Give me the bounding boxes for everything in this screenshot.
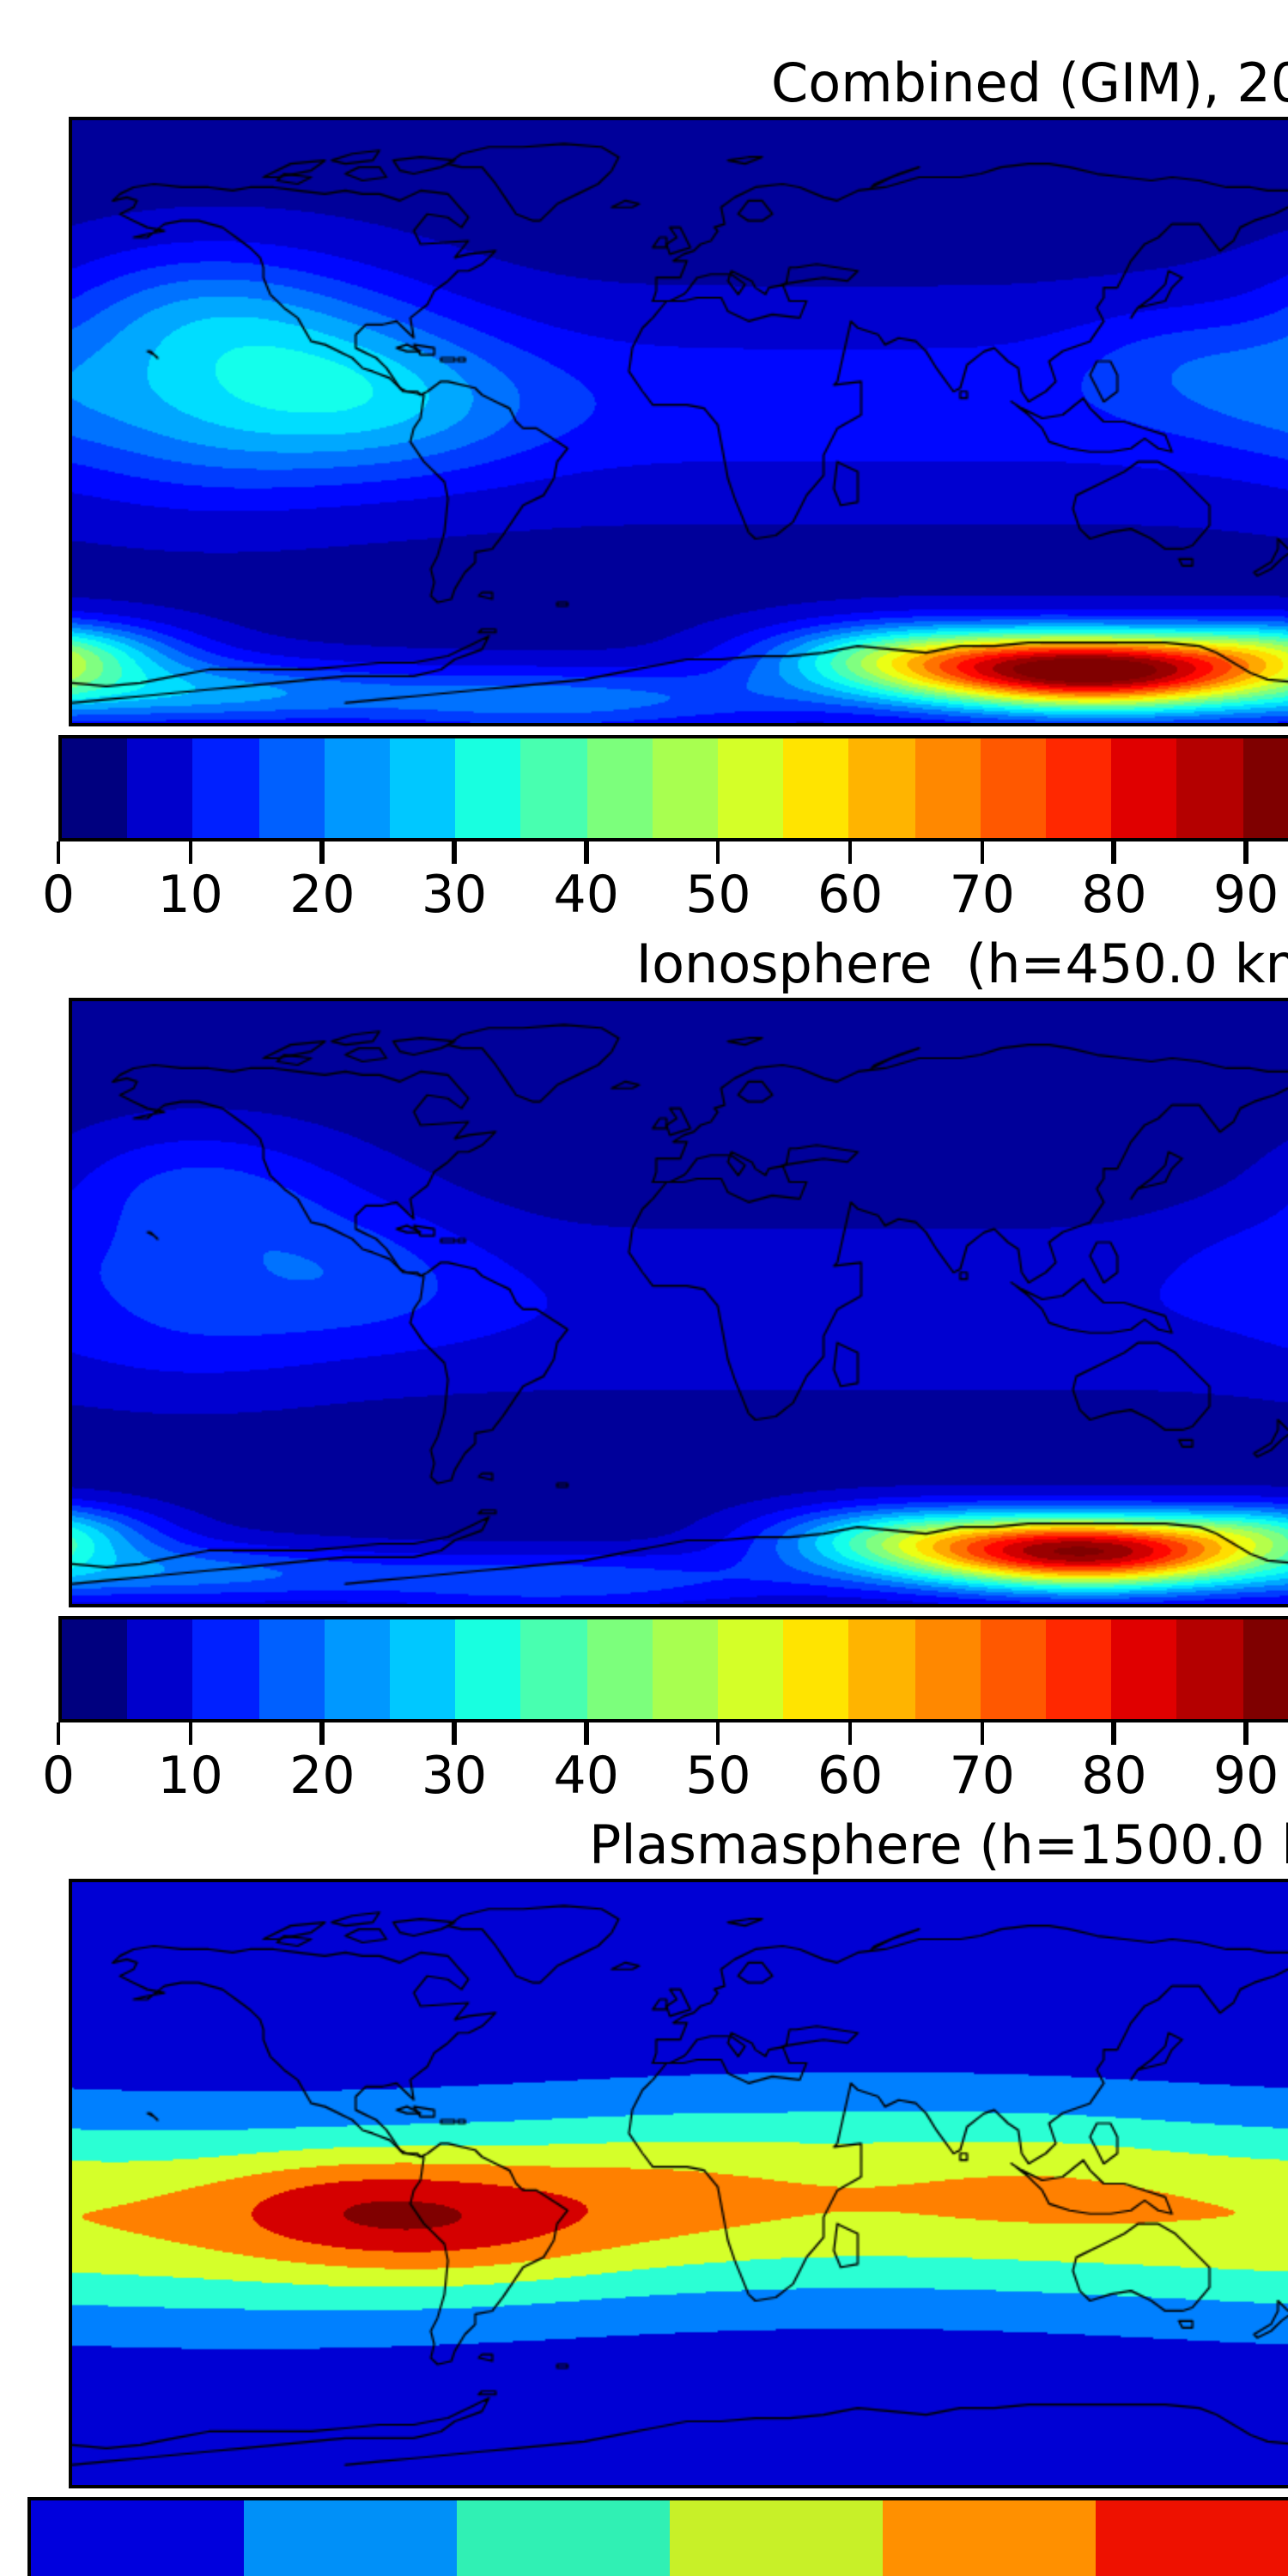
colorbar-tick-label: 50 [685,1747,750,1808]
figure-canvas: Combined (GIM), 2009-05-01 21:00 UT 0102… [0,0,1288,2576]
colorbar-segment [127,1619,192,1719]
colorbar-segment [521,738,586,838]
colorbar-segment [914,1619,980,1719]
colorbar-segment [670,2500,883,2576]
colorbar-segment [127,738,192,838]
colorbar-tick-label: 30 [422,1747,487,1808]
colorbar-tick-label: 0 [42,1747,75,1808]
colorbar-segment [390,1619,455,1719]
colorbar-segment [325,1619,390,1719]
panel-title-combined: Combined (GIM), 2009-05-01 21:00 UT [0,52,1288,117]
colorbar-segment [457,2500,670,2576]
map-plot-area-plasmasphere [69,1879,1288,2488]
colorbar-tick-labels-combined: 0102030405060708090 [58,866,1288,934]
colorbar-gradient-combined [58,735,1288,841]
colorbar-segment [1046,1619,1111,1719]
colorbar-tick-label: 30 [422,866,487,927]
colorbar-ionosphere: 0102030405060708090 [58,1616,1288,1822]
colorbar-plasmasphere: 0.02.55.07.510.012.515.0 [27,2497,1288,2576]
colorbar-segment [783,1619,848,1719]
colorbar-segment [244,2500,457,2576]
colorbar-tick-label: 60 [817,1747,883,1808]
colorbar-segment [390,738,455,838]
panel-ionosphere: Ionosphere (h=450.0 km), 2009-05-01 21:0… [0,933,1288,998]
colorbar-tick [584,1722,588,1745]
colorbar-segment [258,738,324,838]
colorbar-tick [188,841,192,864]
colorbar-tick [1112,841,1116,864]
panel-title-ionosphere: Ionosphere (h=450.0 km), 2009-05-01 21:0… [0,933,1288,998]
map-image-plasmasphere [72,1882,1288,2485]
map-image-combined [72,120,1288,723]
colorbar-segment [586,1619,652,1719]
colorbar-segment [981,738,1046,838]
colorbar-tick [453,1722,457,1745]
colorbar-segment [258,1619,324,1719]
colorbar-segment [1242,1619,1288,1719]
colorbar-tick [1112,1722,1116,1745]
map-axes-combined [69,117,1288,726]
map-plot-area-combined [69,117,1288,726]
colorbar-tick-label: 50 [685,866,750,927]
colorbar-segment [62,738,127,838]
colorbar-segment [653,738,718,838]
colorbar-segment [883,2500,1096,2576]
colorbar-tick [57,1722,61,1745]
colorbar-tick [980,841,984,864]
colorbar-tick [57,841,61,864]
colorbar-tick-label: 70 [950,866,1015,927]
map-plot-area-ionosphere [69,998,1288,1607]
colorbar-tick-label: 40 [554,1747,619,1808]
colorbar-gradient-plasmasphere [27,2497,1288,2576]
panel-plasmasphere: Plasmasphere (h=1500.0 km), 2009-05-01 2… [0,1814,1288,1879]
colorbar-segment [193,1619,258,1719]
colorbar-tick-label: 40 [554,866,619,927]
colorbar-segment [1112,1619,1177,1719]
colorbar-segment [1242,738,1288,838]
colorbar-tick-label: 10 [157,866,222,927]
colorbar-tick-label: 0 [42,866,75,927]
colorbar-tick-label: 90 [1213,1747,1279,1808]
colorbar-segment [653,1619,718,1719]
colorbar-segment [1096,2500,1288,2576]
colorbar-tick [584,841,588,864]
colorbar-segment [586,738,652,838]
colorbar-segment [1112,738,1177,838]
map-axes-ionosphere [69,998,1288,1607]
colorbar-tick-labels-ionosphere: 0102030405060708090 [58,1747,1288,1815]
colorbar-segment [31,2500,244,2576]
colorbar-segment [718,738,783,838]
colorbar-segment [783,738,848,838]
panel-title-plasmasphere: Plasmasphere (h=1500.0 km), 2009-05-01 2… [0,1814,1288,1879]
colorbar-segment [1177,738,1242,838]
colorbar-tick-label: 20 [289,866,355,927]
colorbar-tick [716,1722,720,1745]
colorbar-tick [320,1722,325,1745]
colorbar-segment [849,738,914,838]
colorbar-tick [980,1722,984,1745]
map-image-ionosphere [72,1001,1288,1604]
colorbar-tick-label: 20 [289,1747,355,1808]
colorbar-segment [455,1619,520,1719]
panel-combined-gim: Combined (GIM), 2009-05-01 21:00 UT [0,52,1288,117]
colorbar-segment [849,1619,914,1719]
colorbar-tick-label: 10 [157,1747,222,1808]
colorbar-tick [716,841,720,864]
colorbar-segment [1177,1619,1242,1719]
colorbar-tick [848,1722,853,1745]
colorbar-tick-label: 60 [817,866,883,927]
colorbar-segment [1046,738,1111,838]
colorbar-segment [193,738,258,838]
colorbar-tick [320,841,325,864]
colorbar-tick [453,841,457,864]
colorbar-segment [455,738,520,838]
colorbar-tick-label: 90 [1213,866,1279,927]
colorbar-tick-label: 70 [950,1747,1015,1808]
colorbar-gradient-ionosphere [58,1616,1288,1722]
colorbar-segment [981,1619,1046,1719]
colorbar-tick-label: 80 [1081,1747,1146,1808]
colorbar-combined: 0102030405060708090 [58,735,1288,941]
colorbar-tick-label: 80 [1081,866,1146,927]
colorbar-segment [914,738,980,838]
colorbar-tick [188,1722,192,1745]
colorbar-segment [718,1619,783,1719]
colorbar-segment [521,1619,586,1719]
colorbar-tick [1244,841,1249,864]
colorbar-tick [1244,1722,1249,1745]
colorbar-segment [325,738,390,838]
map-axes-plasmasphere [69,1879,1288,2488]
colorbar-segment [62,1619,127,1719]
colorbar-tick [848,841,853,864]
